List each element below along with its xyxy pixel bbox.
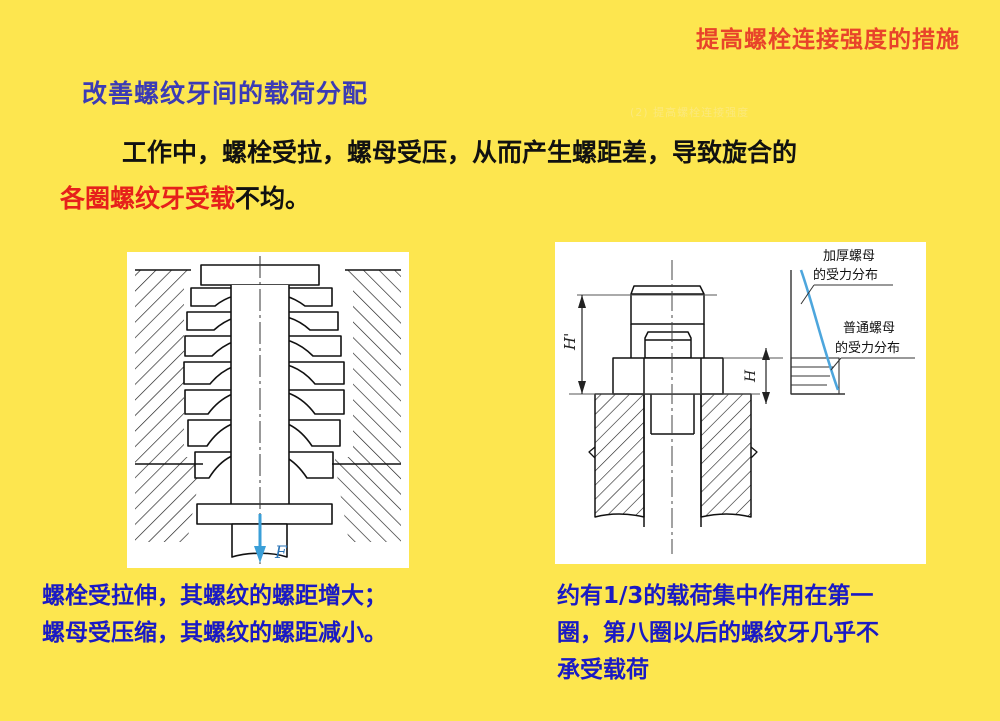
body-line-1: 工作中，螺栓受拉，螺母受压，从而产生螺距差，导致旋合的 (122, 138, 797, 167)
dimension-label-H-prime: H' (561, 333, 579, 351)
dimension-label-H: H (743, 369, 759, 383)
body-paragraph: 工作中，螺栓受拉，螺母受压，从而产生螺距差，导致旋合的 各圈螺纹牙受载不均。 (60, 130, 960, 222)
page-title: 提高螺栓连接强度的措施 (696, 20, 960, 54)
caption-left-line-1: 螺栓受拉伸，其螺纹的螺距增大； (42, 578, 522, 615)
caption-right: 约有1/3的载荷集中作用在第一 圈，第八圈以后的螺纹牙几乎不 承受载荷 (557, 578, 957, 689)
caption-right-line-2: 圈，第八圈以后的螺纹牙几乎不 (557, 615, 957, 652)
svg-text:加厚螺母: 加厚螺母 (823, 249, 875, 264)
load-curve-thick-nut (801, 270, 838, 390)
svg-text:普通螺母: 普通螺母 (843, 321, 895, 336)
section-subtitle: 改善螺纹牙间的载荷分配 (82, 74, 368, 110)
slide-root: 提高螺栓连接强度的措施 改善螺纹牙间的载荷分配 (2) 提高螺栓连接强度 工作中… (0, 0, 1000, 721)
svg-text:的受力分布: 的受力分布 (835, 340, 900, 356)
caption-left-line-2: 螺母受压缩，其螺纹的螺距减小。 (42, 615, 522, 652)
figure-left: F (127, 252, 409, 568)
bolt-nut-thread-section-diagram: F (127, 252, 409, 568)
force-label-F: F (274, 543, 288, 563)
nut-load-distribution-diagram: H' H (555, 242, 926, 564)
caption-right-line-1: 约有1/3的载荷集中作用在第一 (557, 578, 957, 615)
figure-right: H' H (555, 242, 926, 564)
body-line-2-rest: 不均。 (235, 184, 310, 213)
annotation-thick-nut: 加厚螺母 的受力分布 (813, 249, 878, 283)
caption-left: 螺栓受拉伸，其螺纹的螺距增大； 螺母受压缩，其螺纹的螺距减小。 (42, 578, 522, 652)
thread-profile-group (184, 265, 344, 557)
watermark-text: (2) 提高螺栓连接强度 (630, 104, 749, 120)
body-line-2-highlight: 各圈螺纹牙受载 (60, 184, 235, 213)
caption-right-line-3: 承受载荷 (557, 652, 957, 689)
annotation-normal-nut: 普通螺母 的受力分布 (835, 321, 900, 356)
svg-text:的受力分布: 的受力分布 (813, 267, 878, 283)
